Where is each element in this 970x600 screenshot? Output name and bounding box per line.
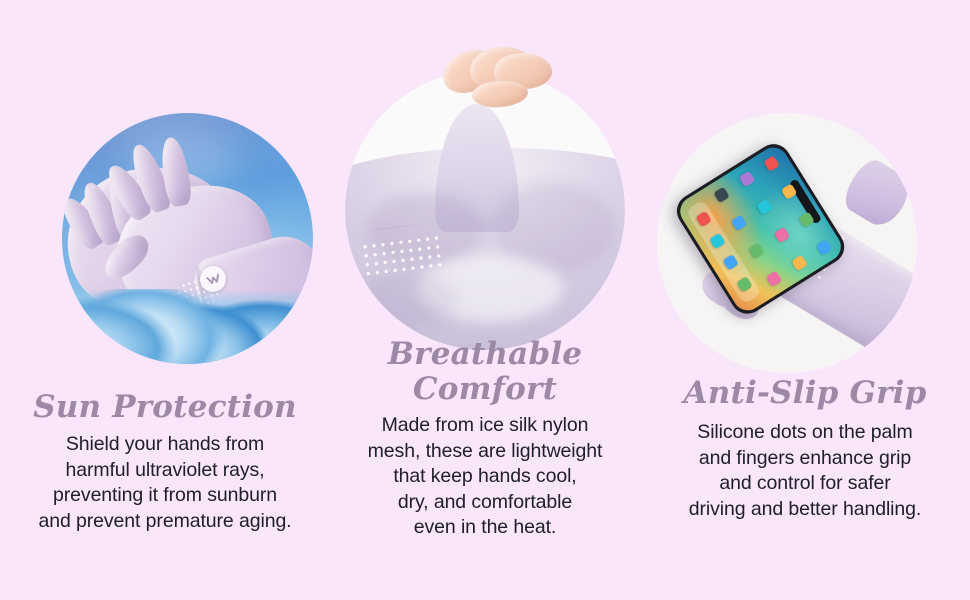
panel-body-breathable-comfort: Made from ice silk nylon mesh, these are… — [330, 413, 640, 541]
sun-protection-image — [62, 113, 313, 364]
app-icon — [774, 227, 791, 244]
feature-panel-anti-slip-grip: Anti-Slip Grip Silicone dots on the palm… — [640, 0, 970, 600]
pinching-fingers — [442, 47, 554, 119]
app-icon — [756, 199, 773, 216]
panel-body-sun-protection: Shield your hands from harmful ultraviol… — [0, 432, 330, 534]
panel-headline-anti-slip-grip: Anti-Slip Grip — [640, 376, 970, 411]
app-icon — [739, 171, 756, 188]
anti-slip-grip-image — [657, 113, 917, 373]
app-icon — [816, 239, 833, 256]
dock-icon — [695, 211, 712, 228]
panel-body-anti-slip-grip: Silicone dots on the palm and fingers en… — [640, 420, 970, 522]
app-icon — [767, 270, 784, 287]
dock-icon — [723, 255, 740, 272]
app-icon — [749, 242, 766, 259]
feature-panel-sun-protection: Sun Protection Shield your hands from ha… — [0, 0, 330, 600]
sleeve-cuff — [839, 154, 917, 232]
app-icon — [714, 186, 731, 203]
ice-facets — [62, 289, 313, 364]
dock-icon — [709, 233, 726, 250]
panel-headline-breathable-comfort: Breathable Comfort — [330, 337, 640, 407]
panel-headline-sun-protection: Sun Protection — [0, 390, 330, 425]
feature-panel-breathable-comfort: Breathable Comfort Made from ice silk ny… — [330, 0, 640, 600]
app-icon — [764, 155, 781, 172]
fabric-fold — [351, 272, 457, 328]
app-icon — [732, 214, 749, 231]
dock-icon — [736, 276, 753, 293]
infographic-canvas: Sun Protection Shield your hands from ha… — [0, 0, 970, 600]
app-icon-row — [764, 155, 833, 256]
app-icon — [791, 255, 808, 272]
